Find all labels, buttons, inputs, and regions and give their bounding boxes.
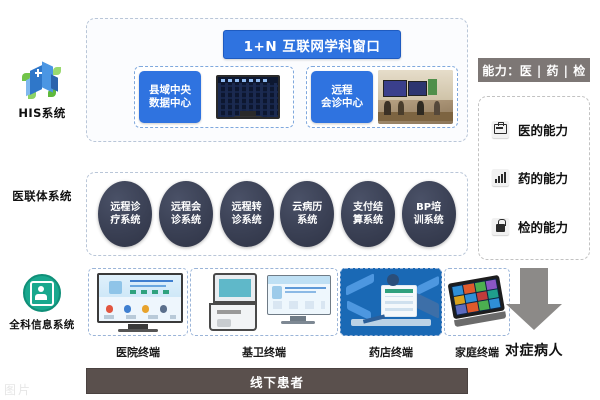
consultation-room-thumb (378, 70, 453, 124)
capability-item-pharmacy-label: 药的能力 (518, 168, 568, 187)
sidebar-item-alliance[interactable]: 医联体系统 (0, 188, 84, 204)
county-data-center-button[interactable]: 县域中央 数据中心 (139, 71, 201, 123)
terminal-hospital[interactable] (88, 268, 188, 336)
node-remote-consultation[interactable]: 远程会 诊系统 (159, 181, 213, 247)
remote-consultation-group: 远程 会诊中心 (306, 66, 458, 128)
monitor-illustration (267, 275, 329, 327)
tablet-illustration (448, 275, 507, 327)
node-cloud-records[interactable]: 云病历 系统 (280, 181, 334, 247)
case-icon (492, 121, 509, 138)
node-remote-referral[interactable]: 远程转 诊系统 (220, 181, 274, 247)
service-arrow-label: 服务 (506, 270, 562, 306)
watermark: 图片 (4, 381, 32, 398)
people-circle-icon (0, 272, 84, 314)
capability-header: 能力：医 | 药 | 检 (478, 58, 590, 82)
sidebar-item-his-label: HIS系统 (0, 105, 84, 121)
terminal-hospital-label: 医院终端 (88, 344, 188, 360)
diagram-canvas: HIS系统 医联体系统 全科信息系统 1+N 互联网学科窗口 县域中央 数据中心… (0, 0, 600, 400)
node-payment-settlement[interactable]: 支付结 算系统 (341, 181, 395, 247)
remote-consultation-center-button[interactable]: 远程 会诊中心 (311, 71, 373, 123)
service-arrow: 服务 (506, 268, 562, 330)
capability-item-pharmacy[interactable]: 药的能力 (479, 168, 589, 187)
sidebar-item-general-practice[interactable]: 全科信息系统 (0, 272, 84, 332)
offline-patients-bar: 线下患者 (86, 368, 468, 394)
alliance-systems-panel: 远程诊 疗系统 远程会 诊系统 远程转 诊系统 云病历 系统 支付结 算系统 B… (86, 172, 468, 256)
terminal-primary-care[interactable] (190, 268, 338, 336)
sidebar-item-his[interactable]: HIS系统 (0, 60, 84, 121)
capability-item-inspection[interactable]: 检的能力 (479, 217, 589, 236)
capability-panel: 医的能力 药的能力 检的能力 (478, 96, 590, 260)
monitor-thumb (206, 70, 289, 124)
target-patients-label: 对症病人 (478, 340, 590, 360)
terminal-primary-care-label: 基卫终端 (190, 344, 338, 360)
bar-chart-icon (492, 169, 509, 186)
sidebar-item-general-practice-label: 全科信息系统 (0, 317, 84, 332)
terminal-pharmacy-label: 药店终端 (340, 344, 442, 360)
capability-item-inspection-label: 检的能力 (518, 217, 568, 236)
terminal-pharmacy[interactable] (340, 268, 442, 336)
node-remote-treatment[interactable]: 远程诊 疗系统 (98, 181, 152, 247)
building-icon (0, 60, 84, 102)
tv-illustration (97, 273, 179, 327)
sidebar-item-alliance-label: 医联体系统 (0, 188, 84, 204)
sidebar: HIS系统 医联体系统 全科信息系统 (0, 0, 84, 400)
lock-icon (492, 218, 509, 235)
top-panel: 1+N 互联网学科窗口 县域中央 数据中心 远程 会诊中心 (86, 18, 468, 142)
capability-item-medical[interactable]: 医的能力 (479, 120, 589, 139)
kiosk-illustration (209, 273, 257, 331)
internet-discipline-window-header: 1+N 互联网学科窗口 (223, 30, 401, 59)
pharmacy-illustration (341, 269, 441, 335)
capability-item-medical-label: 医的能力 (518, 120, 568, 139)
terminal-home[interactable] (444, 268, 510, 336)
node-bp-training[interactable]: BP培 训系统 (402, 181, 456, 247)
data-center-group: 县域中央 数据中心 (134, 66, 294, 128)
